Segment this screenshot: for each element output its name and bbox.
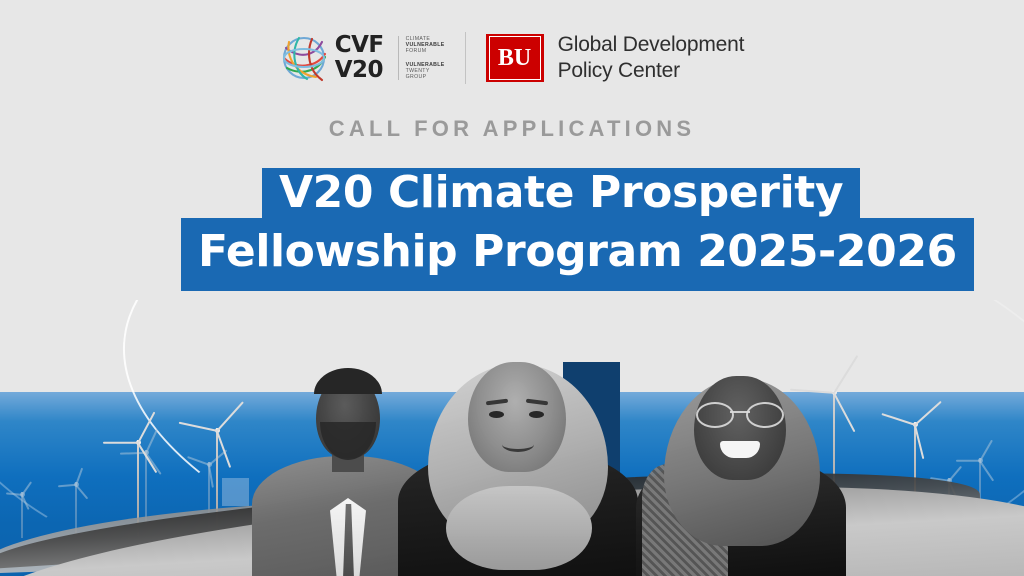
cvf-subtitle-climate-vulnerable-forum: CLIMATE VULNERABLE FORUM bbox=[406, 36, 445, 54]
bu-monogram: BU bbox=[489, 36, 541, 80]
bu-logo-text: Global Development Policy Center bbox=[558, 32, 745, 84]
bu-shield-icon: BU bbox=[486, 34, 544, 82]
cvf-sub1-line3: FORUM bbox=[406, 48, 445, 54]
portrait1-beard bbox=[320, 422, 376, 460]
cvf-subtitle-group: CLIMATE VULNERABLE FORUM VULNERABLE TWEN… bbox=[398, 36, 445, 80]
portrait2-scarf-drape bbox=[446, 486, 592, 570]
portrait3-smile bbox=[720, 441, 760, 458]
portrait2-eye-right bbox=[529, 411, 544, 418]
cvf-v20-logo[interactable]: CVF V20 CLIMATE VULNERABLE FORUM VULNERA… bbox=[280, 34, 445, 82]
eyeglasses-icon bbox=[694, 402, 786, 424]
cvf-sub2-line3: GROUP bbox=[406, 74, 445, 80]
poster-canvas: CVF V20 CLIMATE VULNERABLE FORUM VULNERA… bbox=[0, 0, 1024, 576]
headline-band-1: V20 Climate Prosperity bbox=[262, 168, 860, 218]
portrait1-hair bbox=[314, 368, 382, 394]
fellow-portrait-2 bbox=[398, 330, 638, 576]
portrait3-face bbox=[694, 376, 786, 480]
headline-line1: V20 Climate Prosperity bbox=[279, 167, 843, 218]
portrait3-lens-left bbox=[696, 402, 734, 428]
hero-scene bbox=[0, 300, 1024, 576]
portrait2-face bbox=[468, 362, 566, 472]
portrait2-smile bbox=[502, 437, 534, 452]
bu-gdp-center-logo[interactable]: BU Global Development Policy Center bbox=[486, 32, 745, 84]
headline-line2: Fellowship Program 2025-2026 bbox=[198, 226, 957, 277]
bu-logo-text-line1: Global Development bbox=[558, 32, 745, 58]
light-blue-accent-square bbox=[222, 478, 249, 506]
cvf-subtitle-vulnerable-twenty-group: VULNERABLE TWENTY GROUP bbox=[406, 62, 445, 80]
portrait2-eye-left bbox=[489, 411, 504, 418]
portrait3-lens-right bbox=[746, 402, 784, 428]
cvf-wordmark-line2: V20 bbox=[335, 59, 384, 82]
eyebrow-call-for-applications: CALL FOR APPLICATIONS bbox=[0, 116, 1024, 142]
wind-turbine-icon bbox=[6, 492, 38, 538]
logo-divider bbox=[465, 32, 466, 84]
logo-bar: CVF V20 CLIMATE VULNERABLE FORUM VULNERA… bbox=[0, 26, 1024, 90]
portrait3-glasses-bridge bbox=[730, 411, 750, 413]
cvf-wordmark-line1: CVF bbox=[335, 34, 384, 57]
headline-band-2: Fellowship Program 2025-2026 bbox=[181, 218, 974, 291]
bu-logo-text-line2: Policy Center bbox=[558, 58, 745, 84]
cvf-wordmark: CVF V20 bbox=[335, 34, 384, 82]
cvf-sub2-line1: VULNERABLE bbox=[406, 62, 445, 68]
cvf-globe-icon bbox=[280, 34, 328, 82]
fellow-portrait-3 bbox=[636, 346, 846, 576]
